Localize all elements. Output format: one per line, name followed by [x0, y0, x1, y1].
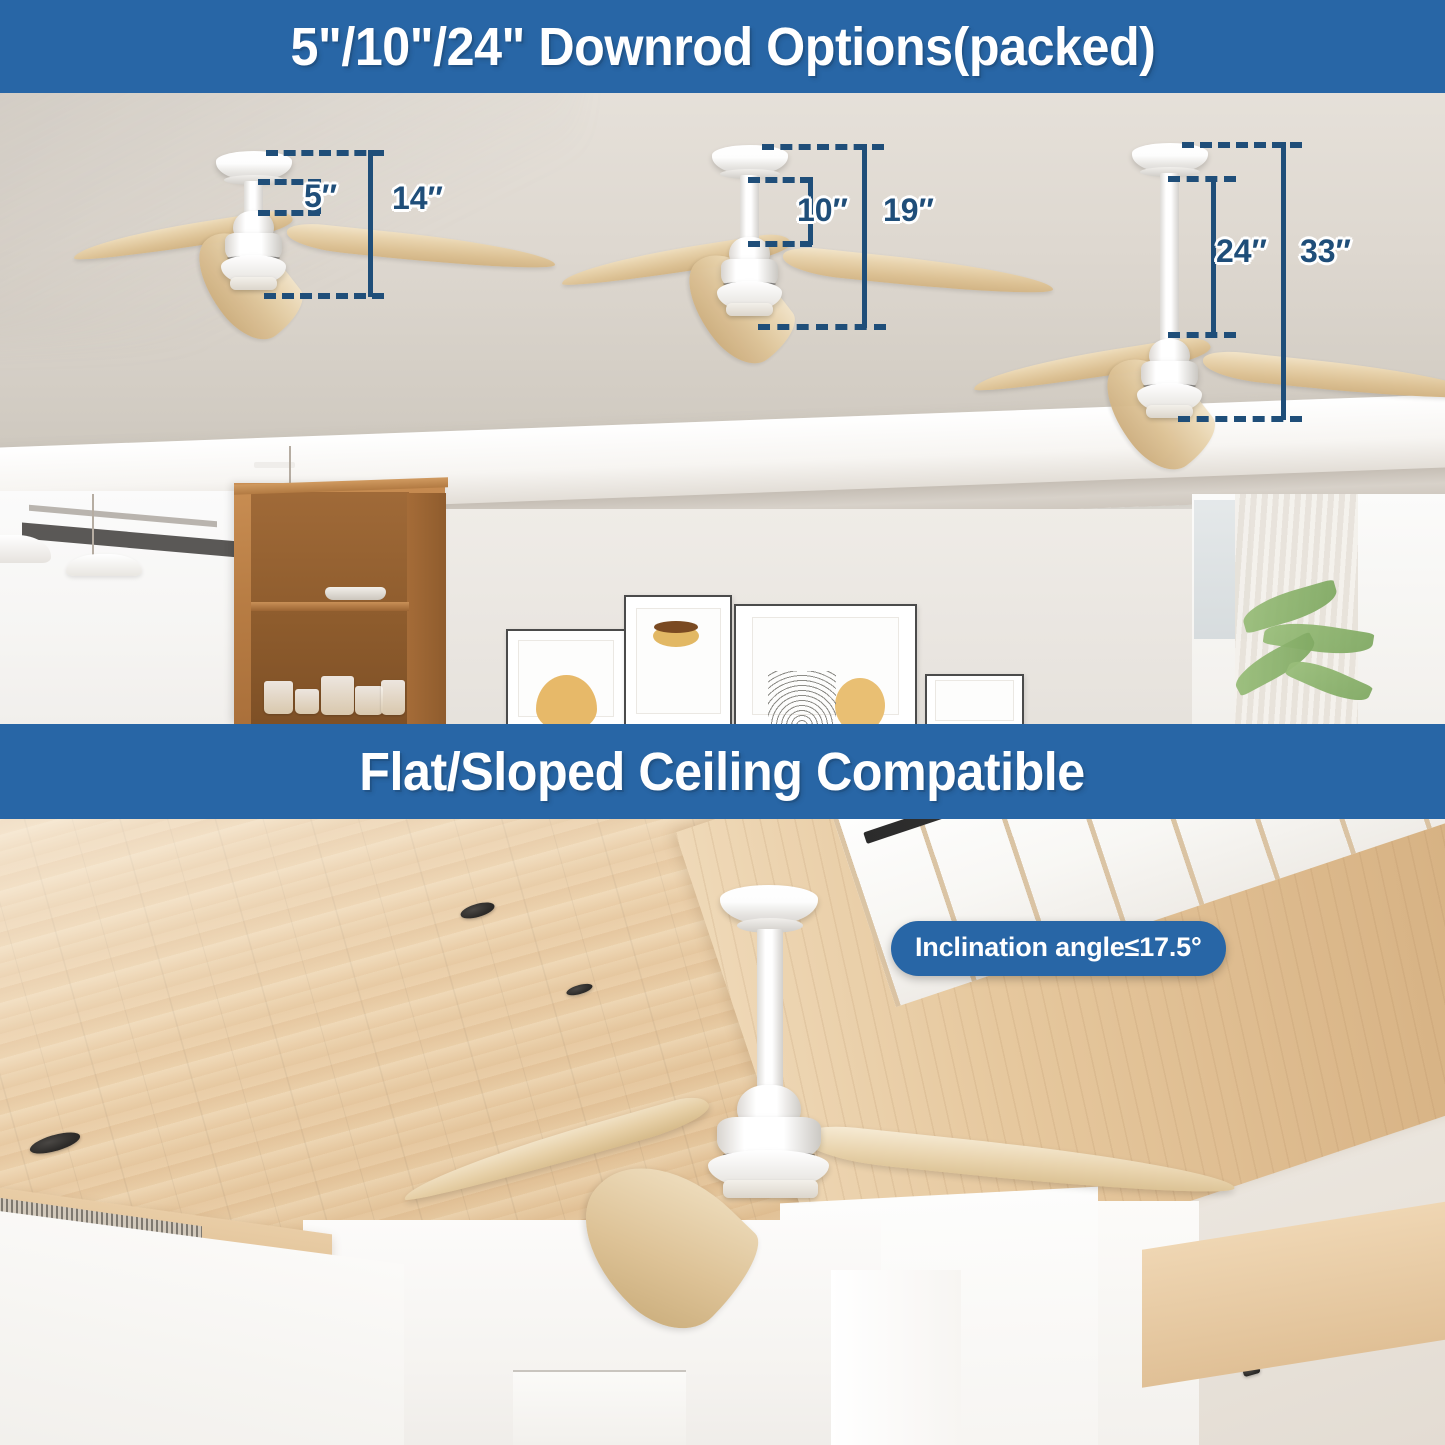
dim-bracket-top-3	[1168, 176, 1236, 182]
dim-label-downrod-2: 10″	[797, 192, 848, 229]
fan-blade	[801, 1122, 1236, 1202]
framed-art	[506, 629, 627, 724]
fan-downrod	[1160, 173, 1179, 345]
frame-mat	[935, 680, 1013, 721]
fan-downrod	[740, 175, 759, 243]
scene-flat-ceiling-room	[0, 93, 1445, 724]
dim-bracket-bottom-2	[748, 241, 812, 247]
dim-bracket-bottom-3	[1168, 332, 1236, 338]
banner-middle-text: Flat/Sloped Ceiling Compatible	[360, 741, 1085, 803]
dim-total-line-3	[1281, 142, 1286, 420]
potted-plant	[1222, 541, 1410, 724]
pendant-rod	[92, 494, 94, 557]
banner-ceiling-compatible: Flat/Sloped Ceiling Compatible	[0, 724, 1445, 819]
jar	[381, 680, 404, 715]
cabinet-side-panel	[407, 493, 446, 724]
dim-total-line-1	[368, 150, 373, 297]
dim-label-downrod-3: 24″	[1216, 233, 1267, 270]
art-pattern	[768, 671, 836, 724]
jar	[321, 676, 354, 714]
framed-art	[734, 604, 917, 724]
banner-top-text: 5"/10"/24" Downrod Options(packed)	[290, 16, 1155, 78]
dim-bracket-top-2	[748, 177, 812, 183]
cabinet-shelf	[251, 602, 409, 611]
fan-downrod	[757, 929, 783, 1092]
dim-top-guide-1	[266, 150, 384, 156]
fan-hub-plate	[230, 277, 277, 290]
framed-art	[624, 595, 732, 724]
dim-label-downrod-1: 5″	[304, 178, 337, 215]
banner-downrod-options: 5"/10"/24" Downrod Options(packed)	[0, 0, 1445, 93]
dim-total-line-2	[862, 144, 867, 328]
product-infographic: 5"/10"/24" Downrod Options(packed)	[0, 0, 1445, 1445]
badge-inclination-angle: Inclination angle≤17.5°	[891, 921, 1226, 976]
ceramic-bowl	[325, 587, 386, 600]
jar	[264, 681, 293, 714]
ceiling-fan-sloped-mount	[0, 819, 1445, 1445]
fan-hub-plate	[723, 1180, 818, 1199]
plant-leaf	[1285, 653, 1374, 710]
framed-art	[925, 674, 1024, 724]
jar	[355, 686, 382, 714]
jar	[295, 689, 320, 714]
fan-hub-plate	[726, 303, 773, 316]
scene-sloped-wood-ceiling	[0, 819, 1445, 1445]
dim-label-total-3: 33″	[1300, 233, 1351, 270]
art-shape	[835, 678, 885, 724]
dim-bottom-guide-1	[264, 293, 384, 299]
art-shape	[654, 621, 698, 633]
dim-label-total-1: 14″	[392, 180, 443, 217]
dim-label-total-2: 19″	[883, 192, 934, 229]
